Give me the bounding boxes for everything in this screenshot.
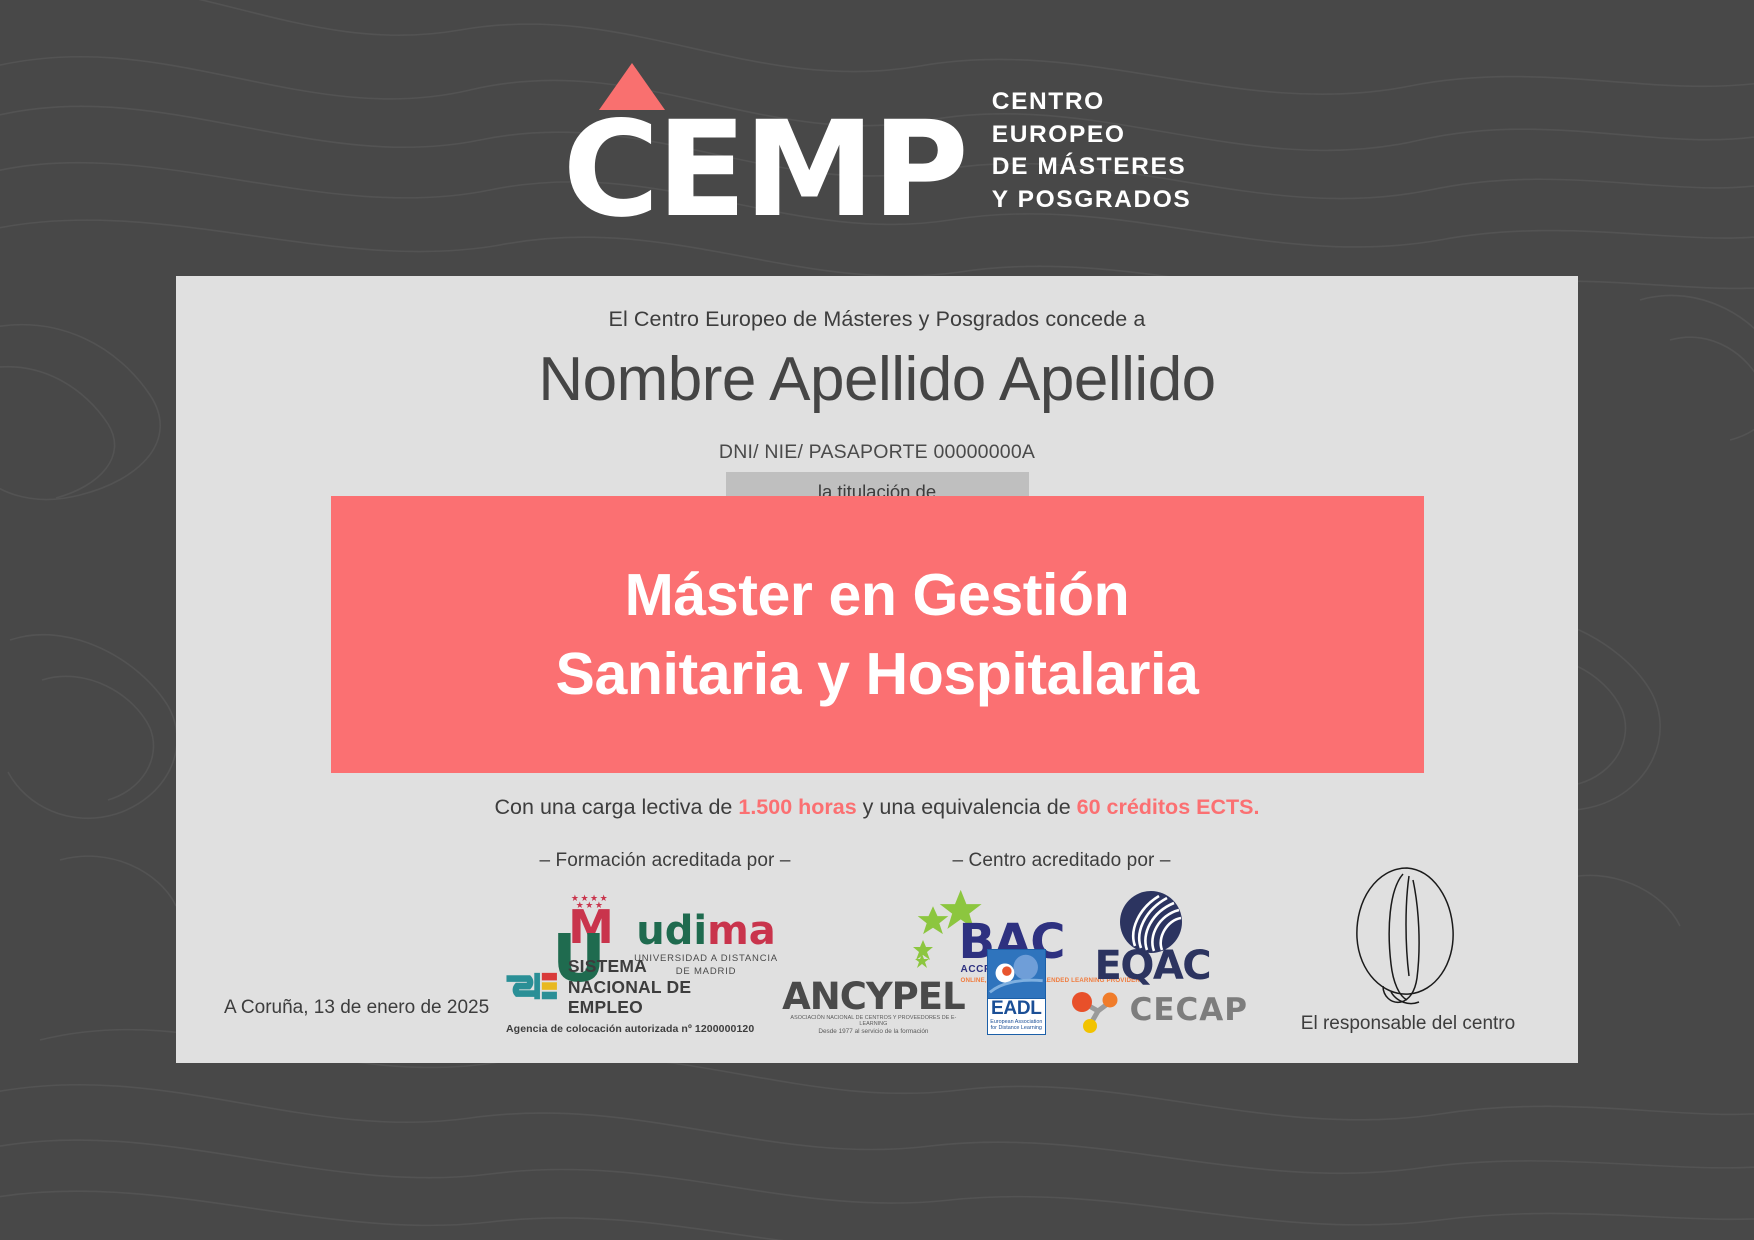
workload-line: Con una carga lectiva de 1.500 horas y u… [176,795,1578,820]
eadl-subtitle-line-2: for Distance Learning [990,1025,1043,1032]
cecap-wordmark: CECAP [1130,992,1248,1028]
tagline-line-4: Y POSGRADOS [992,184,1192,217]
signature-label: El responsable del centro [1248,1013,1568,1035]
signature-block: El responsable del centro [1248,860,1578,1035]
eadl-emblem-icon [987,949,1046,999]
ancypel-wordmark: ANCYPEL [782,979,965,1014]
place-date: A Coruña, 13 de enero de 2025 [176,997,506,1035]
certificate-card: El Centro Europeo de Másteres y Posgrado… [176,276,1578,1063]
sne-agency-note: Agencia de colocación autorizada nº 1200… [506,1023,760,1035]
tagline-line-2: EUROPEO [992,119,1192,152]
sne-logo: SISTEMA NACIONAL DE EMPLEO Agencia de co… [506,956,760,1035]
workload-hours: 1.500 horas [738,795,856,819]
degree-title-line-2: Sanitaria y Hospitalaria [556,635,1199,713]
brand-header: CEMP CENTRO EUROPEO DE MÁSTERES Y POSGRA… [0,0,1754,276]
tagline-line-3: DE MÁSTERES [992,151,1192,184]
signature-icon [1343,860,1473,1010]
workload-prefix: Con una carga lectiva de [495,795,739,819]
certificate-footer: A Coruña, 13 de enero de 2025 SISTEMA NA… [176,860,1578,1035]
recipient-name: Nombre Apellido Apellido [176,344,1578,415]
ancypel-logo: ANCYPEL ASOCIACIÓN NACIONAL DE CENTROS Y… [782,979,965,1035]
identification-line: DNI/ NIE/ PASAPORTE 00000000A [176,441,1578,464]
cemp-tagline: CENTRO EUROPEO DE MÁSTERES Y POSGRADOS [992,86,1192,224]
eadl-subtitle: European Association for Distance Learni… [988,1019,1045,1035]
grants-line: El Centro Europeo de Másteres y Posgrado… [176,276,1578,332]
sne-mark-icon [506,968,559,1006]
eadl-subtitle-line-1: European Association [990,1019,1043,1026]
tagline-line-1: CENTRO [992,86,1192,119]
workload-middle: y una equivalencia de [857,795,1077,819]
degree-title-line-1: Máster en Gestión [625,556,1130,634]
eadl-wordmark: EADL [988,999,1045,1019]
ancypel-subtitle-1: ASOCIACIÓN NACIONAL DE CENTROS Y PROVEED… [782,1015,965,1027]
workload-credits: 60 créditos ECTS. [1077,795,1260,819]
cemp-logo: CEMP CENTRO EUROPEO DE MÁSTERES Y POSGRA… [563,63,1192,224]
footer-logo-row: SISTEMA NACIONAL DE EMPLEO Agencia de co… [506,949,1248,1035]
degree-title-band: Máster en Gestión Sanitaria y Hospitalar… [331,496,1424,773]
cemp-wordmark: CEMP [563,116,966,224]
cecap-logo: CECAP [1068,985,1248,1035]
eadl-text-block: EADL European Association for Distance L… [987,999,1046,1035]
ancypel-subtitle-2: Desde 1977 al servicio de la formación [782,1028,965,1035]
eadl-logo: EADL European Association for Distance L… [987,949,1046,1035]
sne-line-1: SISTEMA [568,956,760,977]
cecap-mark-icon [1068,985,1122,1035]
sne-line-2: NACIONAL DE EMPLEO [568,977,760,1018]
